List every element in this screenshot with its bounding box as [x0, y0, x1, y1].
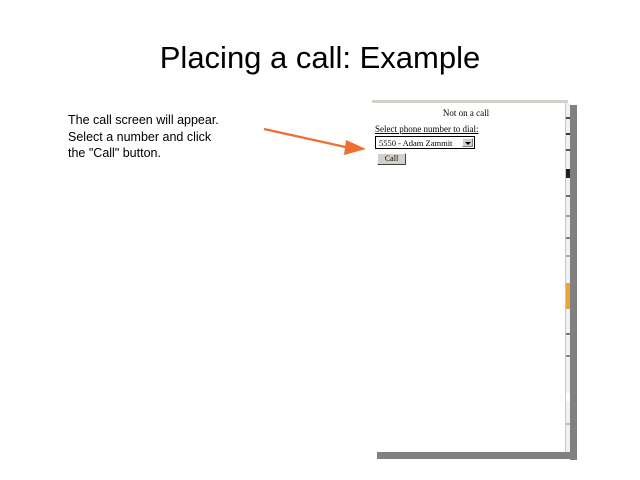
chevron-down-icon[interactable]	[462, 138, 473, 147]
phone-number-select[interactable]: 5550 - Adam Zammit	[375, 136, 475, 149]
call-status-text: Not on a call	[372, 108, 560, 118]
phone-number-select-value: 5550 - Adam Zammit	[379, 138, 452, 149]
pointer-arrow-shaft	[264, 129, 350, 148]
slide-canvas: Placing a call: Example The call screen …	[0, 0, 640, 480]
body-text-line-2: Select a number and click	[68, 129, 268, 146]
scrollbar-tick	[566, 237, 570, 239]
panel-frame: Not on a call Select phone number to dia…	[370, 97, 570, 452]
vertical-scrollbar-thumb[interactable]	[566, 283, 570, 309]
chevron-down-glyph	[465, 142, 471, 145]
call-button[interactable]: Call	[377, 153, 406, 165]
phone-number-select-label: Select phone number to dial:	[375, 124, 478, 134]
scrollbar-tick	[566, 117, 570, 119]
scrollbar-tick	[566, 149, 570, 151]
body-text-line-3: the "Call" button.	[68, 145, 268, 162]
scrollbar-tick	[566, 169, 570, 178]
scrollbar-tick	[566, 215, 570, 217]
scrollbar-tick	[566, 133, 570, 135]
scrollbar-tick	[566, 393, 570, 401]
vertical-scrollbar[interactable]	[565, 103, 570, 452]
scrollbar-tick	[566, 423, 570, 425]
pointer-arrow-icon	[258, 118, 370, 160]
scrollbar-tick	[566, 355, 570, 357]
panel-top-chrome-bar	[372, 100, 568, 103]
pointer-arrow-head	[344, 140, 366, 155]
panel-shadow-bottom	[377, 452, 577, 459]
call-screen-content: Not on a call Select phone number to dia…	[372, 105, 560, 450]
scrollbar-tick	[566, 333, 570, 335]
body-text-block: The call screen will appear. Select a nu…	[68, 112, 268, 162]
panel-shadow-right	[570, 105, 577, 460]
body-text-line-1: The call screen will appear.	[68, 112, 268, 129]
scrollbar-tick	[566, 255, 570, 257]
page-title: Placing a call: Example	[0, 40, 640, 76]
embedded-screenshot-panel: Not on a call Select phone number to dia…	[370, 97, 570, 452]
scrollbar-tick	[566, 195, 570, 197]
